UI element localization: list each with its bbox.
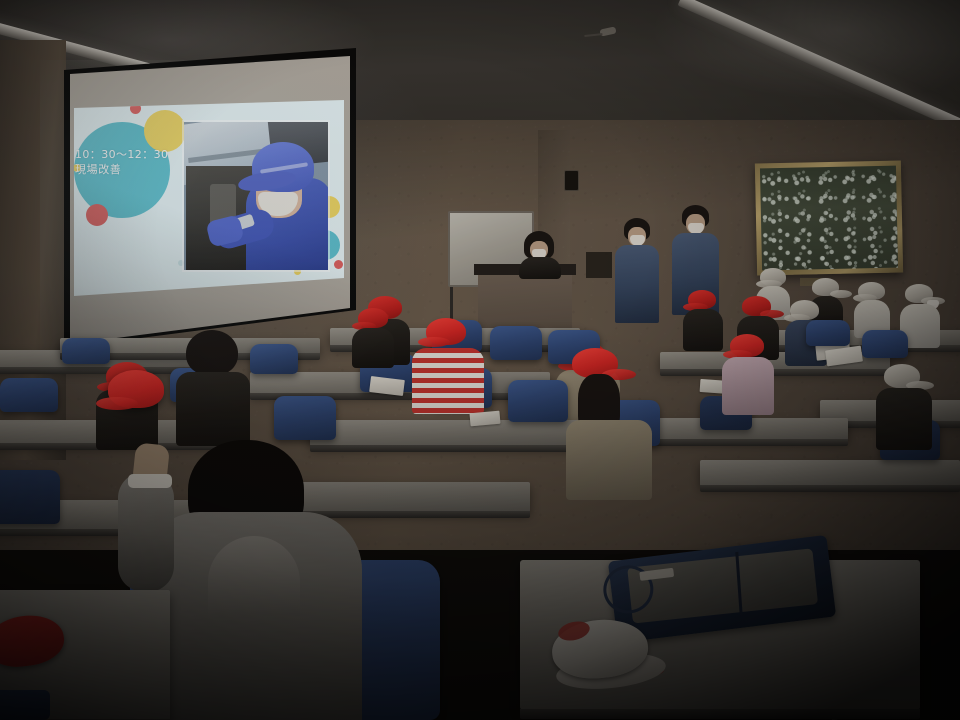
chair[interactable] [62,338,110,364]
slide-circle-yellow [144,110,186,152]
presentation-slide: 10：30〜12：30 現場改善 [72,100,346,298]
student-center-2-torso-striped-shirt [412,348,484,414]
chair[interactable] [250,344,298,374]
slide-text-block: 10：30〜12：30 現場改善 [75,148,187,177]
hoodie-cuff [128,474,172,488]
slide-time-range: 10：30〜12：30 [75,148,187,162]
slide-circle-red-right-small [334,260,343,269]
chair[interactable] [0,470,60,524]
chair[interactable] [508,380,568,422]
hoodie-sleeve [118,472,174,592]
chair[interactable] [0,690,50,720]
student-center-3-torso [566,420,652,500]
slide-circle-red [86,204,108,226]
photo-light-wash [184,122,328,270]
chair[interactable] [862,330,908,358]
cap-brim-icon [418,337,450,347]
podium [478,272,572,330]
chair[interactable] [0,378,58,412]
student-mid-2-torso [876,388,932,450]
student-left-3-torso [352,328,394,368]
student-back-5-torso [683,309,723,351]
slide-topic: 現場改善 [75,163,187,177]
student-left-2-torso [176,372,250,446]
framed-painting [755,160,903,275]
worksheet-paper [469,411,500,427]
chair[interactable] [274,396,336,440]
student-left-2-head [186,330,238,376]
staff-left-uniform [615,245,659,323]
cap-brim-icon [96,397,138,410]
slide-photo [184,122,328,270]
table-row [700,460,960,486]
chair[interactable] [806,320,850,346]
wall-speaker-icon [564,170,579,191]
chair[interactable] [490,326,542,360]
wall-vent [586,252,612,278]
student-mid-1-torso [722,357,774,415]
presenter-seated-torso [519,257,561,279]
satchel-flap [627,548,818,623]
sprinkler-head-icon [599,26,616,36]
classroom-scene: 10：30〜12：30 現場改善 [0,0,960,720]
painting-canvas [760,166,898,271]
